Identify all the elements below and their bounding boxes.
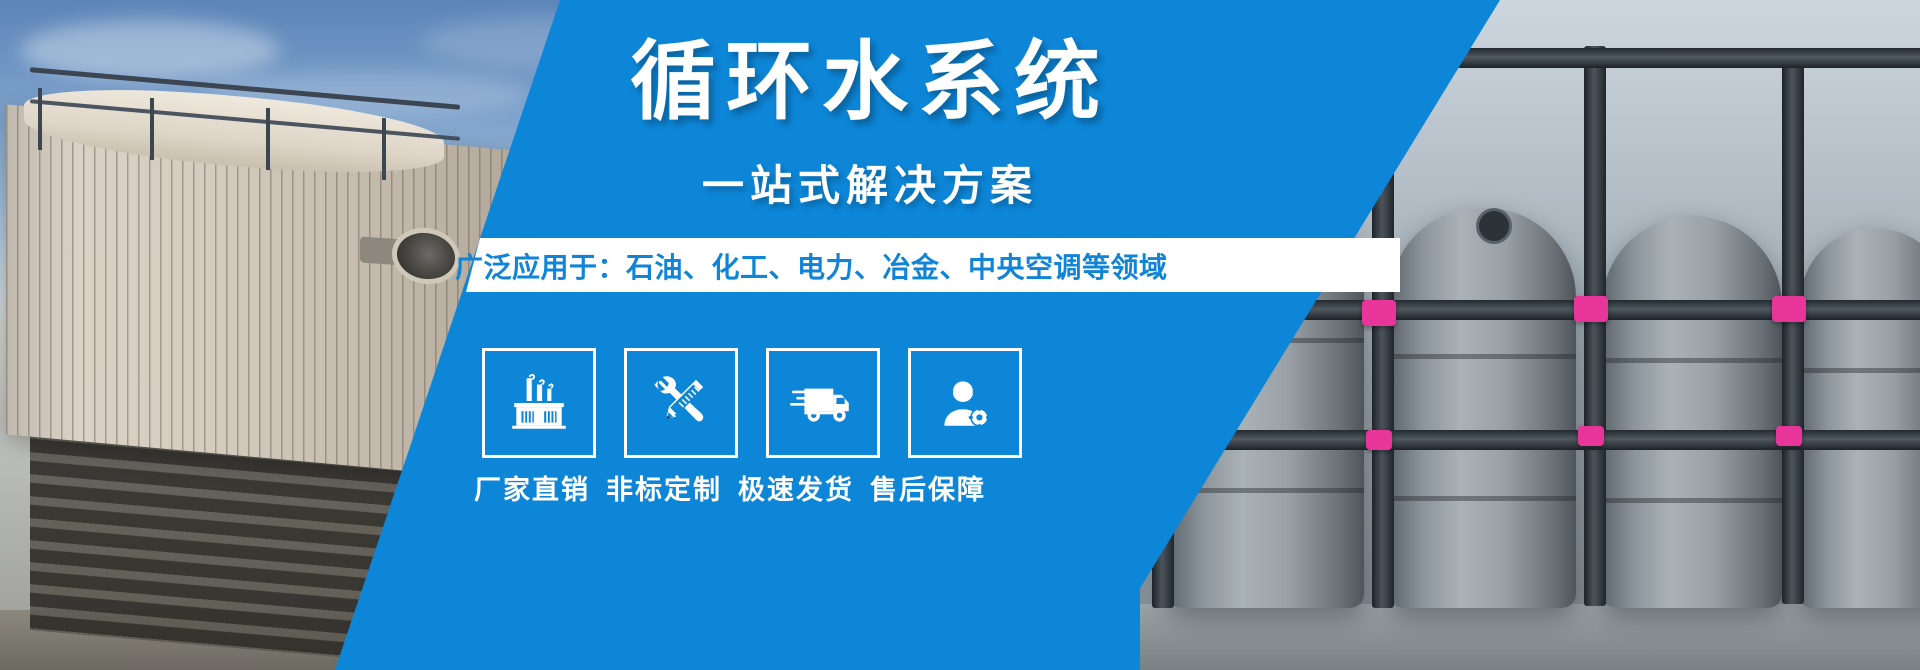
plant-floor [1140, 604, 1920, 670]
tank-weld-band [1602, 358, 1782, 363]
feature-label-support: 售后保障 [866, 468, 990, 507]
delivery-truck-icon [790, 372, 856, 434]
feature-label-row: 厂家直销 非标定制 极速发货 售后保障 [470, 468, 990, 507]
page-title: 循环水系统 [600, 36, 1140, 129]
feature-label-factory: 厂家直销 [470, 468, 594, 507]
rail-post [382, 118, 386, 180]
rail-post [38, 88, 42, 150]
header-pipe [1150, 430, 1920, 450]
headset-support-icon [932, 372, 998, 434]
rail-post [266, 108, 270, 170]
filter-tank [1800, 228, 1920, 608]
tagline-text: 广泛应用于：石油、化工、电力、冶金、中央空调等领域 [455, 244, 1175, 288]
valve-handle [1772, 296, 1806, 322]
feature-label-custom: 非标定制 [602, 468, 726, 507]
valve-handle [1776, 426, 1802, 446]
valve-handle [1574, 296, 1608, 322]
valve-handle [1578, 426, 1604, 446]
promo-banner: 循环水系统 一站式解决方案 广泛应用于：石油、化工、电力、冶金、中央空调等领域 [0, 0, 1920, 670]
wrench-pencil-icon [648, 372, 714, 434]
feature-box-factory[interactable] [482, 348, 596, 458]
rail-post [150, 98, 154, 160]
tank-weld-band [1800, 368, 1920, 373]
factory-icon [506, 372, 572, 434]
tank-weld-band [1390, 496, 1576, 501]
filter-tank [1390, 208, 1576, 608]
riser-pipe [1782, 52, 1804, 604]
valve-handle [1366, 430, 1392, 450]
feature-box-delivery[interactable] [766, 348, 880, 458]
riser-pipe [1584, 46, 1606, 606]
feature-icon-row [482, 348, 1022, 458]
filter-tank [1602, 216, 1782, 608]
pipe-flange [1476, 208, 1512, 244]
valve-handle [1362, 300, 1396, 326]
feature-label-delivery: 极速发货 [734, 468, 858, 507]
feature-box-support[interactable] [908, 348, 1022, 458]
feature-box-custom[interactable] [624, 348, 738, 458]
tank-weld-band [1390, 354, 1576, 359]
tank-weld-band [1602, 498, 1782, 503]
page-subtitle: 一站式解决方案 [600, 152, 1140, 213]
